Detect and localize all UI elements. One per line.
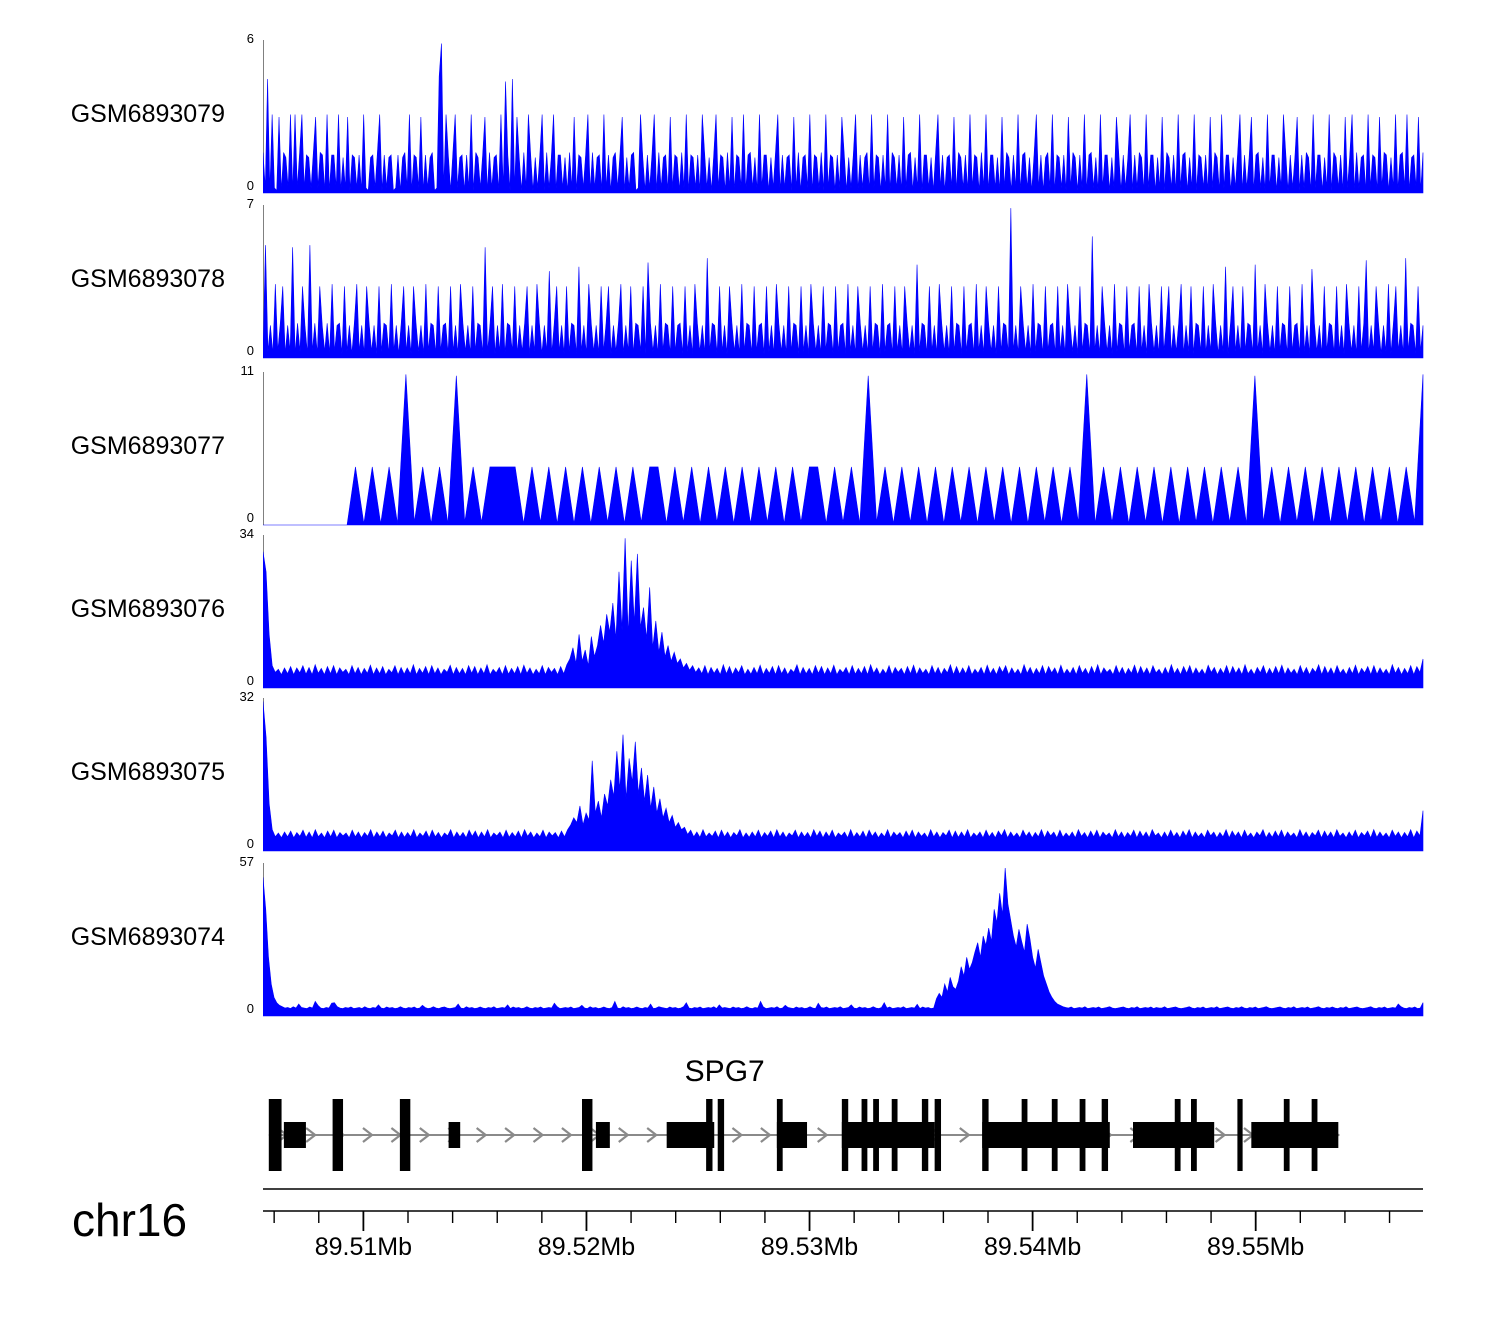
coverage-plot[interactable] — [263, 203, 1423, 364]
y-axis-max-label: 32 — [218, 690, 254, 703]
gene-annotation-track: SPG7 — [0, 1055, 1500, 1195]
y-axis-min-label: 0 — [218, 511, 254, 524]
y-axis-max-label: 11 — [218, 364, 254, 377]
chromosome-label: chr16 — [72, 1193, 187, 1247]
y-axis-max-label: 57 — [218, 855, 254, 868]
axis-tick-label: 89.53Mb — [761, 1233, 858, 1262]
coverage-track: GSM6893075320 — [0, 696, 1500, 851]
y-axis-max-label: 7 — [218, 197, 254, 210]
genome-axis-track: chr16 89.51Mb89.52Mb89.53Mb89.54Mb89.55M… — [0, 1185, 1500, 1305]
coverage-plot[interactable] — [263, 533, 1423, 694]
y-axis-min-label: 0 — [218, 674, 254, 687]
y-axis-min-label: 0 — [218, 1002, 254, 1015]
y-axis-max-label: 34 — [218, 527, 254, 540]
coverage-track: GSM6893074570 — [0, 861, 1500, 1016]
axis-tick-label: 89.51Mb — [315, 1233, 412, 1262]
track-sample-label: GSM6893078 — [0, 265, 225, 294]
axis-tick-label: 89.52Mb — [538, 1233, 635, 1262]
track-sample-label: GSM6893074 — [0, 923, 225, 952]
track-sample-label: GSM6893075 — [0, 758, 225, 787]
coverage-track: GSM689307960 — [0, 38, 1500, 193]
coverage-track: GSM6893077110 — [0, 370, 1500, 525]
coverage-plot[interactable] — [263, 370, 1423, 531]
y-axis-min-label: 0 — [218, 837, 254, 850]
coverage-plot[interactable] — [263, 38, 1423, 199]
coverage-track: GSM6893076340 — [0, 533, 1500, 688]
coverage-plot[interactable] — [263, 696, 1423, 857]
track-sample-label: GSM6893076 — [0, 595, 225, 624]
track-sample-label: GSM6893077 — [0, 432, 225, 461]
gene-name-label: SPG7 — [685, 1055, 765, 1089]
axis-tick-label: 89.54Mb — [984, 1233, 1081, 1262]
gene-model[interactable] — [263, 1093, 1423, 1183]
track-sample-label: GSM6893079 — [0, 100, 225, 129]
axis-tick-label: 89.55Mb — [1207, 1233, 1304, 1262]
y-axis-min-label: 0 — [218, 179, 254, 192]
genome-browser: GSM689307960GSM689307870GSM6893077110GSM… — [0, 0, 1500, 1320]
y-axis-min-label: 0 — [218, 344, 254, 357]
coverage-track: GSM689307870 — [0, 203, 1500, 358]
y-axis-max-label: 6 — [218, 32, 254, 45]
coverage-plot[interactable] — [263, 861, 1423, 1022]
coordinate-axis[interactable]: 89.51Mb89.52Mb89.53Mb89.54Mb89.55Mb — [263, 1185, 1423, 1231]
